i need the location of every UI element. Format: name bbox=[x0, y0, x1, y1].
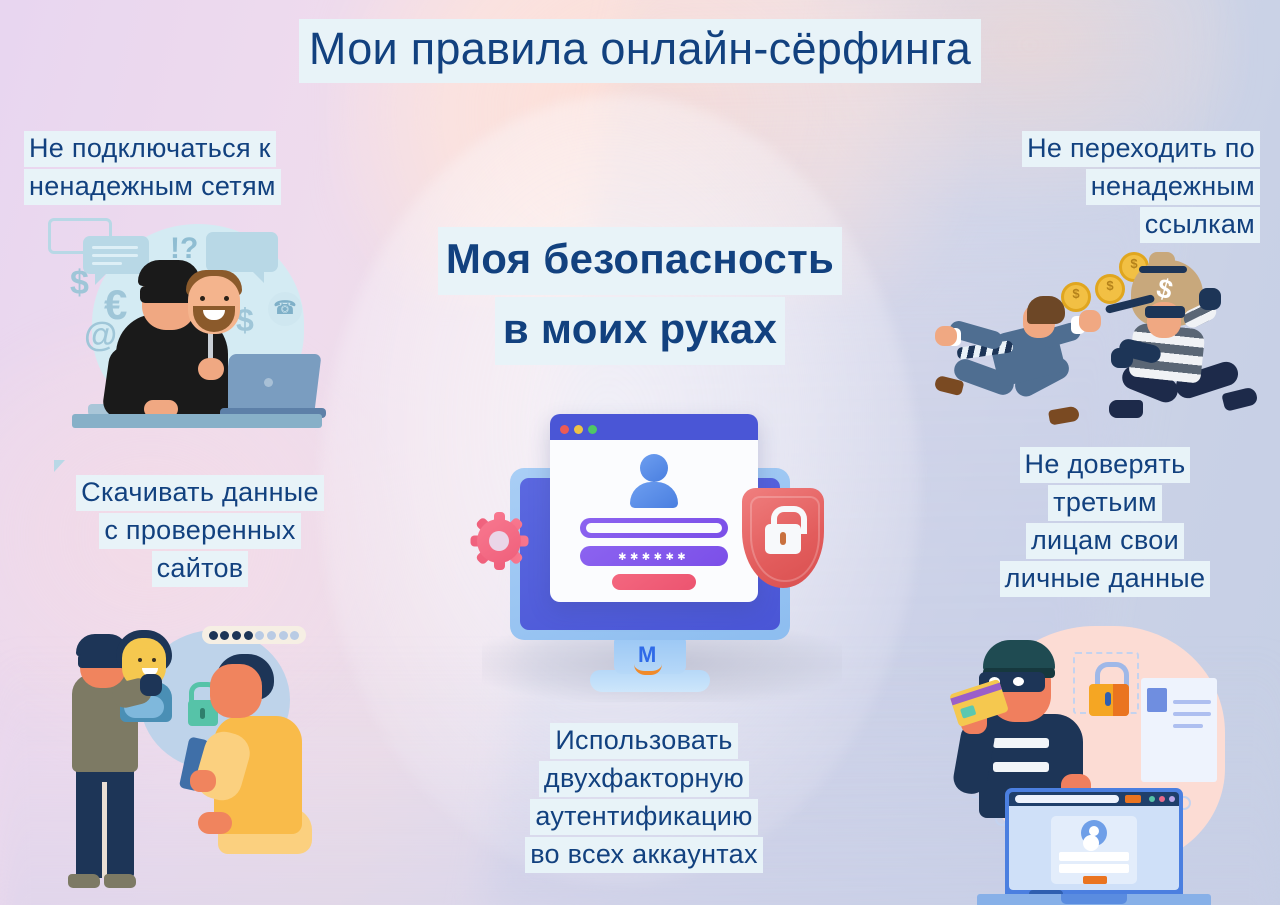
rule-untrusted-networks: Не подключаться кненадежным сетям bbox=[24, 130, 384, 206]
thief-legs bbox=[76, 764, 134, 878]
laptop-trackpad bbox=[1061, 894, 1127, 904]
victim-head bbox=[210, 664, 262, 718]
rule-two-factor-auth-line-2: двухфакторную bbox=[539, 761, 749, 797]
female-mask-eye bbox=[138, 658, 142, 662]
thief-gloved-hand bbox=[1111, 348, 1133, 368]
avatar bbox=[640, 454, 668, 482]
padlock-keyhole bbox=[1105, 692, 1111, 706]
brand-logo-letter: M bbox=[638, 644, 656, 666]
avatar bbox=[1081, 820, 1107, 846]
rule-two-factor-auth-line-4: во всех аккаунтах bbox=[525, 837, 763, 873]
rule-untrusted-links-line-1: Не переходить по bbox=[1022, 131, 1260, 167]
mask-eye bbox=[200, 296, 205, 301]
thief-beanie-hat bbox=[983, 640, 1055, 672]
password-input: ✱✱✱✱✱✱ bbox=[580, 546, 728, 566]
rule-untrusted-links: Не переходить поненадежнымссылкам bbox=[910, 130, 1260, 244]
rule-no-third-party-data-line-1: Не доверять bbox=[1020, 447, 1191, 483]
rule-verified-downloads-line-1: Скачивать данные bbox=[76, 475, 324, 511]
victim-hand bbox=[190, 770, 216, 792]
rule-no-third-party-data-line-2: третьим bbox=[1048, 485, 1162, 521]
dollar-sign-icon: $ bbox=[70, 266, 89, 300]
browser-go-button bbox=[1125, 795, 1141, 803]
coin-icon: $ bbox=[1061, 282, 1091, 312]
page-title-text: Мои правила онлайн-сёрфинга bbox=[299, 19, 981, 83]
at-sign-icon: @ bbox=[84, 318, 117, 352]
rule-verified-downloads: Скачивать данныес проверенныхсайтов bbox=[20, 474, 380, 588]
thief-shirt-stripe bbox=[993, 738, 1049, 748]
thief-chase-illustration: $ $ $ $ bbox=[935, 248, 1265, 438]
rule-verified-downloads-line-3: сайтов bbox=[152, 551, 249, 587]
thief-boot bbox=[1221, 386, 1258, 412]
thief-shoe bbox=[68, 874, 100, 888]
center-heading: Моя безопасностьв моих руках bbox=[330, 226, 950, 366]
thief-eye-mask bbox=[1145, 306, 1185, 318]
padlock-keyhole bbox=[780, 532, 786, 545]
businessman-shoe bbox=[1048, 406, 1080, 426]
businessman-hair bbox=[1027, 296, 1065, 324]
rule-two-factor-auth: Использоватьдвухфакторнуюаутентификациюв… bbox=[466, 722, 822, 874]
gear-center-hole bbox=[489, 531, 509, 551]
speech-bubble-icon bbox=[206, 232, 278, 272]
thief-gloved-hand bbox=[1199, 288, 1221, 310]
center-heading-line-1: Моя безопасность bbox=[438, 227, 842, 295]
gear-icon bbox=[472, 514, 526, 568]
coin-icon: $ bbox=[1095, 274, 1125, 304]
rule-untrusted-networks-line-2: ненадежным сетям bbox=[24, 169, 281, 205]
padlock-keyhole bbox=[200, 708, 205, 719]
thief-gloved-hand bbox=[140, 674, 162, 696]
victim-hand bbox=[198, 812, 232, 834]
rule-two-factor-auth-line-3: аутентификацию bbox=[530, 799, 757, 835]
password-dot-empty bbox=[290, 631, 299, 640]
window-dot bbox=[1169, 796, 1175, 802]
center-heading-line-2: в моих руках bbox=[495, 297, 785, 365]
hacker-gripping-hand bbox=[198, 358, 224, 380]
document-icon bbox=[1141, 678, 1217, 782]
mask-eye bbox=[224, 296, 229, 301]
social-engineering-illustration bbox=[50, 612, 360, 897]
window-maximize-dot bbox=[588, 425, 597, 434]
window-dot bbox=[1149, 796, 1155, 802]
login-password-field bbox=[1059, 864, 1129, 873]
thief-eye bbox=[1013, 677, 1024, 686]
login-username-field bbox=[1059, 852, 1129, 861]
thief-shoe bbox=[104, 874, 136, 888]
rule-untrusted-links-line-2: ненадежным bbox=[1086, 169, 1260, 205]
username-input bbox=[580, 518, 728, 538]
password-strength-indicator bbox=[202, 626, 306, 644]
password-dot-empty bbox=[267, 631, 276, 640]
rule-no-third-party-data-line-4: личные данные bbox=[1000, 561, 1211, 597]
login-submit-button bbox=[1083, 876, 1107, 884]
money-bag-tie bbox=[1139, 266, 1187, 273]
password-dot-filled bbox=[232, 631, 241, 640]
rule-no-third-party-data: Не доверятьтретьимлицам своиличные данны… bbox=[950, 446, 1260, 598]
rule-verified-downloads-line-2: с проверенных bbox=[99, 513, 300, 549]
password-dot-filled bbox=[244, 631, 253, 640]
password-dot-filled bbox=[209, 631, 218, 640]
page-title: Мои правила онлайн-сёрфинга bbox=[0, 18, 1280, 84]
monitor-login-illustration: M ✱✱✱✱✱✱ bbox=[462, 396, 862, 706]
desk-surface bbox=[72, 414, 322, 428]
speech-bubble-icon bbox=[83, 236, 149, 274]
businessman-hand bbox=[1079, 310, 1101, 332]
female-mask-eye bbox=[152, 658, 156, 662]
password-dot-filled bbox=[220, 631, 229, 640]
login-submit-button bbox=[612, 574, 696, 590]
window-dot bbox=[1159, 796, 1165, 802]
hacker-with-mask-illustration: $ € @ $ !? ☎ bbox=[48, 218, 358, 458]
rule-untrusted-networks-line-1: Не подключаться к bbox=[24, 131, 276, 167]
rule-untrusted-links-line-3: ссылкам bbox=[1140, 207, 1260, 243]
infographic-poster: Мои правила онлайн-сёрфинга Моя безопасн… bbox=[0, 0, 1280, 905]
browser-url-bar bbox=[1015, 795, 1119, 803]
window-close-dot bbox=[560, 425, 569, 434]
phone-ring-icon: ☎ bbox=[268, 292, 302, 326]
rule-two-factor-auth-line-1: Использовать bbox=[550, 723, 737, 759]
window-minimize-dot bbox=[574, 425, 583, 434]
password-dot-empty bbox=[279, 631, 288, 640]
thief-shirt-stripe bbox=[993, 762, 1049, 772]
password-dot-empty bbox=[255, 631, 264, 640]
laptop-logo-dot bbox=[264, 378, 273, 387]
rule-no-third-party-data-line-3: лицам свои bbox=[1026, 523, 1184, 559]
businessman-hand bbox=[935, 326, 957, 346]
thief-boot bbox=[1109, 400, 1143, 418]
card-thief-illustration bbox=[945, 618, 1265, 903]
